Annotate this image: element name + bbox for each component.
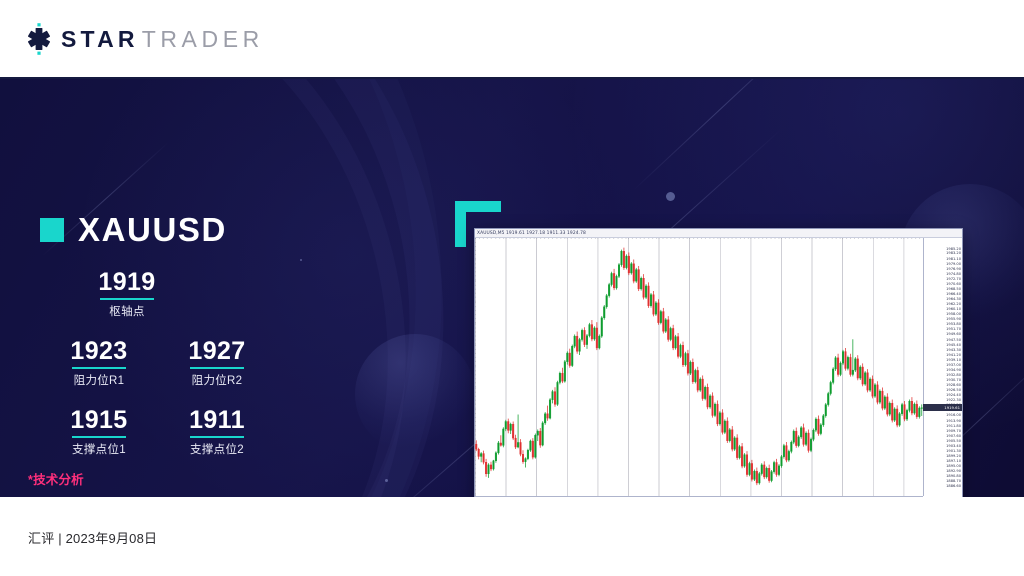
price-tick: 1886.60 <box>946 485 961 489</box>
level-underline <box>72 367 126 369</box>
level-resistance1: 1923 阻力位R1 <box>40 338 158 388</box>
price-tick: 1932.80 <box>946 374 961 378</box>
level-pivot-value: 1919 <box>68 269 186 296</box>
price-tick: 1947.50 <box>946 339 961 343</box>
chart-header: XAUUSD,M5 1919.61 1927.18 1911.33 1924.7… <box>475 229 962 238</box>
technical-analysis: *技术分析 多头持仓在枢轴点以上，目标位为阻力位R1及阻力位R2。 若低于枢轴点… <box>28 469 408 497</box>
price-tick: 1899.20 <box>946 455 961 459</box>
price-tick: 1979.00 <box>946 263 961 267</box>
price-tick: 1968.50 <box>946 288 961 292</box>
price-tick: 1943.30 <box>946 349 961 353</box>
candlestick-series <box>475 238 923 496</box>
level-resistance1-label: 阻力位R1 <box>40 372 158 388</box>
price-tick: 1981.10 <box>946 258 961 262</box>
price-tick: 1909.70 <box>946 430 961 434</box>
brand-logo[interactable]: STAR TRADER <box>22 22 264 56</box>
pivot-levels: 1919 枢轴点 1923 阻力位R1 1927 阻力位R2 1915 <box>40 269 300 457</box>
price-tick: 1901.30 <box>946 450 961 454</box>
price-tick: 1960.10 <box>946 308 961 312</box>
price-tick: 1945.40 <box>946 344 961 348</box>
price-tick: 1939.10 <box>946 359 961 363</box>
level-resistance2-value: 1927 <box>158 338 276 365</box>
current-price-label: 1919.61 <box>923 404 962 411</box>
main-stage: XAUUSD 1919 枢轴点 1923 阻力位R1 1927 阻力位R2 <box>0 79 1024 497</box>
level-support1: 1915 支撑点位1 <box>40 407 158 457</box>
level-underline <box>72 436 126 438</box>
price-tick: 1890.80 <box>946 475 961 479</box>
price-tick: 1974.80 <box>946 273 961 277</box>
decor-planet-left <box>355 334 475 454</box>
price-tick: 1934.90 <box>946 369 961 373</box>
price-tick: 1949.60 <box>946 333 961 337</box>
level-underline <box>190 367 244 369</box>
level-resistance2-label: 阻力位R2 <box>158 372 276 388</box>
price-tick: 1905.50 <box>946 440 961 444</box>
level-resistance1-value: 1923 <box>40 338 158 365</box>
level-pivot: 1919 枢轴点 <box>68 269 186 319</box>
price-tick: 1926.50 <box>946 389 961 393</box>
price-tick: 1928.60 <box>946 384 961 388</box>
price-tick: 1916.00 <box>946 414 961 418</box>
price-tick: 1951.70 <box>946 328 961 332</box>
price-tick: 1983.20 <box>946 252 961 256</box>
level-resistance2: 1927 阻力位R2 <box>158 338 276 388</box>
decor-dot-1 <box>666 192 675 201</box>
brand-name-secondary: TRADER <box>142 26 264 53</box>
price-tick: 1966.40 <box>946 293 961 297</box>
analysis-title: *技术分析 <box>28 469 408 488</box>
price-tick: 1955.90 <box>946 318 961 322</box>
chart-plot-area <box>475 238 923 496</box>
chart-body: 1985.201983.201981.101979.001976.901974.… <box>475 238 962 497</box>
footer-caption: 汇评 | 2023年9月08日 <box>28 528 157 547</box>
price-chart[interactable]: XAUUSD,M5 1919.61 1927.18 1911.33 1924.7… <box>474 228 963 497</box>
level-underline <box>190 436 244 438</box>
instrument-symbol: XAUUSD <box>78 213 227 246</box>
price-tick: 1897.10 <box>946 460 961 464</box>
asterisk-star-icon <box>22 22 56 56</box>
price-tick: 1970.60 <box>946 283 961 287</box>
price-tick: 1922.30 <box>946 399 961 403</box>
title-accent-square <box>40 218 64 242</box>
level-underline <box>100 298 154 300</box>
decor-dot-3 <box>300 259 302 261</box>
page-header: STAR TRADER <box>0 0 1024 78</box>
level-support1-label: 支撑点位1 <box>40 441 158 457</box>
chart-price-axis[interactable]: 1985.201983.201981.101979.001976.901974.… <box>923 238 962 496</box>
price-tick: 1941.20 <box>946 354 961 358</box>
page-title: XAUUSD <box>40 213 227 246</box>
price-tick: 1976.90 <box>946 268 961 272</box>
price-tick: 1972.70 <box>946 278 961 282</box>
price-tick: 1903.40 <box>946 445 961 449</box>
price-tick: 1937.00 <box>946 364 961 368</box>
price-tick: 1962.20 <box>946 303 961 307</box>
price-tick: 1911.80 <box>946 425 961 429</box>
level-support2-value: 1911 <box>158 407 276 434</box>
price-tick: 1913.90 <box>946 420 961 424</box>
brand-name-primary: STAR <box>61 26 139 53</box>
level-pivot-label: 枢轴点 <box>68 303 186 319</box>
level-support1-value: 1915 <box>40 407 158 434</box>
level-support2: 1911 支撑点位2 <box>158 407 276 457</box>
chart-header-text: XAUUSD,M5 1919.61 1927.18 1911.33 1924.7… <box>477 230 586 235</box>
level-support2-label: 支撑点位2 <box>158 441 276 457</box>
price-tick: 1892.90 <box>946 470 961 474</box>
price-tick: 1907.60 <box>946 435 961 439</box>
